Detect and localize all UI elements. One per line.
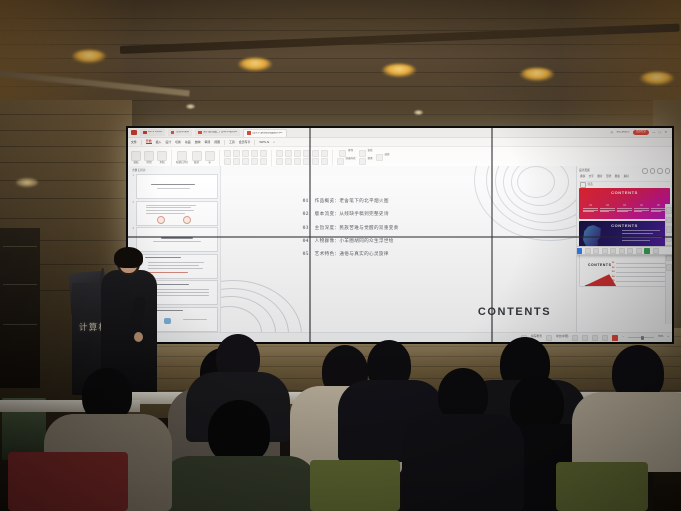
italic-icon[interactable]	[233, 150, 240, 157]
menu-item-home[interactable]: 开始	[146, 140, 152, 144]
slide-thumbnail[interactable]	[136, 227, 219, 252]
row-number: 04	[612, 276, 614, 278]
filter-label: 筛选	[588, 184, 593, 187]
text-direction-icon[interactable]	[312, 158, 319, 165]
chair	[8, 452, 128, 511]
menu-item-tools[interactable]: 工具	[229, 141, 235, 144]
cloud-icon[interactable]	[666, 226, 672, 233]
ppt-icon	[247, 131, 251, 135]
design-pane-title: 设计灵感	[579, 170, 590, 173]
design-pane-tools: 换肤 文字 图片 形状 图表 素材	[579, 174, 670, 182]
ribbon-copy[interactable]: 复制	[157, 151, 167, 165]
reading-view-icon[interactable]	[602, 335, 608, 341]
audience-head	[208, 400, 270, 464]
card-column: 01	[583, 205, 598, 213]
ribbon-paste[interactable]: 粘贴	[131, 151, 141, 165]
card-lines	[622, 230, 666, 244]
ceiling-spotlight	[640, 72, 674, 85]
shape-outline-icon[interactable]	[337, 158, 344, 165]
ribbon-label: 剪切	[146, 162, 151, 165]
ribbon-cut[interactable]: 剪切	[144, 151, 154, 165]
check-icon[interactable]	[644, 248, 650, 254]
scissors-icon	[144, 151, 154, 161]
slide-number: 3	[130, 227, 134, 231]
card-row: 04	[612, 276, 666, 278]
column-number: 03	[617, 205, 632, 207]
ribbon-label: 版式	[194, 162, 199, 165]
wps-ai-button[interactable]: WPS AI	[259, 141, 269, 144]
ribbon-label: 替换	[368, 158, 373, 165]
card-row: 01	[612, 262, 666, 264]
work-area: 大纲 幻灯片 1 2	[128, 166, 672, 333]
maximize-button[interactable]: ▢	[658, 131, 661, 134]
slide-number: 1	[130, 174, 134, 178]
language-label[interactable]: 中文(中国)	[556, 336, 569, 339]
ceiling-spotlight	[382, 64, 416, 77]
account-icon[interactable]: ◎	[611, 131, 614, 134]
column-number: 05	[651, 205, 666, 207]
menu-item-slideshow[interactable]: 放映	[195, 141, 201, 144]
title-bar: WPS Office 付款申请单 第六组成品_千部中华魂.pptx 四条六讲题组…	[128, 128, 672, 138]
account-label[interactable]: 未登录账号	[616, 131, 629, 134]
zoom-slider[interactable]	[628, 337, 654, 338]
slide-canvas-wrapper: 01 作品概览：老舍笔下的北平烟火图 02 版本流变：从残缺手稿到完整史诗 03…	[221, 166, 576, 333]
thumbnail-row[interactable]: 2	[130, 201, 218, 226]
pen-icon[interactable]	[610, 248, 616, 254]
ppt-icon	[198, 131, 202, 135]
doc-icon	[171, 131, 175, 135]
close-pane-icon[interactable]	[665, 168, 671, 174]
pin-icon[interactable]	[657, 168, 663, 174]
ceiling-spotlight	[520, 68, 554, 81]
menu-item-design[interactable]: 设计	[165, 141, 171, 144]
card-column: 05	[651, 205, 666, 213]
audience-body	[572, 392, 681, 472]
audience-body	[160, 456, 318, 511]
text-effect-icon[interactable]	[260, 158, 267, 165]
replace-icon[interactable]	[359, 158, 366, 165]
tool-skin[interactable]: 换肤	[580, 176, 585, 179]
ribbon-label: 排列	[348, 150, 353, 157]
card-column: 03	[617, 205, 632, 213]
tab-label: 付款申请单	[176, 131, 189, 134]
ribbon-new-slide[interactable]: 新建幻灯片	[176, 151, 189, 165]
history-icon[interactable]	[666, 264, 672, 271]
search-icon[interactable]: ⌕	[273, 141, 275, 144]
lecture-hall-scene: WPS Office 付款申请单 第六组成品_千部中华魂.pptx 四条六讲题组…	[0, 0, 681, 511]
card-row: 05	[612, 280, 666, 282]
ceiling-spotlight	[72, 50, 106, 63]
toc-text: 人物群像：小羊圈胡同的众生浮世绘	[315, 239, 394, 244]
indent-increase-icon[interactable]	[303, 150, 310, 157]
presenter-hair	[114, 247, 143, 268]
card-row: 03	[612, 271, 666, 273]
toc-row[interactable]: 04 人物群像：小羊圈胡同的众生浮世绘	[303, 239, 399, 245]
shape-fill-icon[interactable]	[339, 150, 346, 157]
align-left-icon[interactable]	[321, 150, 328, 157]
ribbon-layout[interactable]: 版式	[192, 151, 202, 165]
video-wall-display: WPS Office 付款申请单 第六组成品_千部中华魂.pptx 四条六讲题组…	[126, 126, 674, 344]
select-icon[interactable]	[376, 154, 383, 161]
ribbon-label: 新建幻灯片	[176, 162, 189, 165]
design-card-contents-red[interactable]: CONTENTS 01 02	[579, 188, 670, 219]
home-icon	[143, 131, 147, 135]
ribbon-select[interactable]: 选择	[376, 154, 390, 161]
document-tab[interactable]: WPS Office	[140, 129, 165, 136]
card-column: 02	[600, 205, 615, 213]
ribbon-paragraph-group[interactable]	[276, 150, 328, 165]
slide-heading: CONTENTS	[478, 307, 551, 318]
menu-bar: 文件 开始 插入 设计 切换 动画 放映 审阅 视图 工具 会员专享 WPS A…	[128, 138, 672, 147]
tool-text[interactable]: 文字	[589, 176, 594, 179]
column-number: 04	[634, 205, 649, 207]
tab-label: 四条六讲题组成品版.pptx	[252, 132, 282, 135]
slide-number: 2	[130, 201, 134, 205]
toc-number: 04	[303, 239, 309, 245]
highlight-icon[interactable]	[242, 158, 249, 165]
right-tool-rail[interactable]	[665, 204, 672, 324]
magic-icon[interactable]	[593, 248, 599, 254]
column-number: 01	[583, 205, 598, 207]
bold-icon[interactable]	[224, 150, 231, 157]
sorter-view-icon[interactable]	[592, 335, 598, 341]
normal-view-icon[interactable]	[582, 335, 588, 341]
close-button[interactable]: ✕	[664, 131, 667, 134]
menu-item-animation[interactable]: 动画	[185, 141, 191, 144]
template-icon[interactable]	[666, 236, 672, 243]
login-button[interactable]: 立即登录	[633, 130, 649, 135]
language-icon[interactable]	[546, 335, 552, 341]
active-slide[interactable]: 01 作品概览：老舍笔下的北平烟火图 02 版本流变：从残缺手稿到完整史诗 03…	[221, 166, 576, 333]
ribbon-arrange[interactable]: 排列 快速样式	[337, 150, 356, 165]
ribbon-find-replace[interactable]: 查找 替换	[359, 150, 373, 165]
toc-text: 版本流变：从残缺手稿到完整史诗	[315, 212, 389, 217]
play-slideshow-icon[interactable]	[612, 335, 618, 341]
ribbon-label: 复制	[159, 162, 164, 165]
ribbon-label: 快速样式	[346, 158, 356, 165]
thumbnail-row[interactable]: 3	[130, 227, 218, 252]
menu-item-review[interactable]: 审阅	[204, 141, 210, 144]
translate-icon[interactable]	[585, 248, 591, 254]
favorites-icon[interactable]	[666, 217, 672, 224]
ribbon-font-group[interactable]	[224, 150, 267, 165]
toc-row[interactable]: 03 主旨深度：民族苦难与觉醒的双重变奏	[303, 226, 399, 232]
card-title: CONTENTS	[588, 264, 611, 267]
layout-icon	[192, 151, 202, 161]
image-library-icon[interactable]	[666, 255, 672, 262]
pointer-icon[interactable]	[653, 248, 659, 254]
document-tab[interactable]: 付款申请单	[168, 129, 192, 136]
toc-text: 艺术特色：通俗与真实的心灵旋律	[315, 252, 389, 257]
card-rows: 01 02 03	[612, 262, 666, 285]
font-size-down-icon[interactable]	[233, 158, 240, 165]
design-ideas-pane[interactable]: 设计灵感 换肤 文字 图片 形状 图表	[576, 166, 672, 333]
copy-icon	[157, 151, 167, 161]
wps-logo-icon	[131, 130, 137, 135]
align-center-icon[interactable]	[276, 158, 283, 165]
design-card-contents-white[interactable]: CONTENTS 01 02	[579, 254, 670, 287]
font-color-icon[interactable]	[260, 150, 267, 157]
clear-format-icon[interactable]	[251, 158, 258, 165]
section-icon	[205, 151, 215, 161]
ribbon-label: 粘贴	[133, 162, 138, 165]
underline-icon[interactable]	[242, 150, 249, 157]
toc-number: 05	[303, 252, 309, 258]
number-list-icon[interactable]	[285, 150, 292, 157]
tool-material[interactable]: 素材	[623, 176, 628, 179]
floating-format-toolbar[interactable]	[576, 246, 672, 255]
menu-item-file[interactable]: 文件	[131, 141, 137, 144]
toc-number: 01	[303, 199, 309, 205]
audience-body	[402, 414, 524, 511]
ai-icon[interactable]	[576, 248, 582, 254]
toc-text: 作品概览：老舍笔下的北平烟火图	[315, 199, 389, 204]
column-number: 02	[600, 205, 615, 207]
eraser-icon[interactable]	[627, 248, 633, 254]
thumbnail-row[interactable]: 1	[130, 174, 218, 199]
slide-thumbnail[interactable]	[136, 174, 219, 199]
menu-item-member[interactable]: 会员专享	[239, 141, 251, 144]
bullet-list-icon[interactable]	[276, 150, 283, 157]
image-icon[interactable]	[636, 248, 642, 254]
ribbon-label: 查找	[368, 150, 373, 157]
toc-text: 主旨深度：民族苦难与觉醒的双重变奏	[315, 226, 399, 231]
ribbon-section[interactable]: 节	[205, 151, 215, 165]
card-title: CONTENTS	[579, 224, 670, 228]
toc-row[interactable]: 01 作品概览：老舍笔下的北平烟火图	[303, 199, 399, 205]
shape-icon[interactable]	[602, 248, 608, 254]
toc-row[interactable]: 05 艺术特色：通俗与真实的心灵旋律	[303, 252, 399, 258]
tab-label: 第六组成品_千部中华魂.pptx	[203, 131, 237, 134]
zoom-in-button[interactable]: +	[667, 336, 669, 339]
chair	[310, 460, 400, 511]
wps-office-window: WPS Office 付款申请单 第六组成品_千部中华魂.pptx 四条六讲题组…	[128, 128, 672, 342]
screen-surface: WPS Office 付款申请单 第六组成品_千部中华魂.pptx 四条六讲题组…	[128, 128, 672, 342]
indent-decrease-icon[interactable]	[294, 150, 301, 157]
clipboard-icon	[131, 151, 141, 161]
note-icon[interactable]	[572, 335, 578, 341]
font-size-up-icon[interactable]	[224, 158, 231, 165]
filter-icon	[580, 182, 586, 188]
zoom-level: 70%	[658, 336, 663, 339]
card-columns: 01 02 03	[583, 205, 666, 213]
row-number: 05	[612, 280, 614, 282]
line-spacing-icon[interactable]	[312, 150, 319, 157]
columns-icon[interactable]	[303, 158, 310, 165]
toc-number: 02	[303, 212, 309, 218]
menu-item-transition[interactable]: 切换	[175, 141, 181, 144]
card-column: 04	[634, 205, 649, 213]
document-tab-active[interactable]: 四条六讲题组成品版.pptx	[243, 129, 286, 137]
zoom-out-button[interactable]: −	[622, 336, 624, 339]
ceiling-spotlight	[238, 58, 272, 71]
presenter-hand	[134, 332, 143, 342]
tab-label: WPS Office	[148, 131, 162, 134]
status-bar: 幻灯片 4 / 22 拼写检查 中文(中国) − 70% +	[128, 332, 672, 342]
help-icon[interactable]	[642, 168, 648, 174]
row-number: 02	[612, 267, 614, 269]
menu-item-insert[interactable]: 插入	[156, 141, 162, 144]
convert-smartart-icon[interactable]	[321, 158, 328, 165]
design-idea-icon[interactable]	[666, 207, 672, 214]
document-tab[interactable]: 第六组成品_千部中华魂.pptx	[195, 129, 240, 136]
align-right-icon[interactable]	[285, 158, 292, 165]
row-number: 03	[612, 271, 614, 273]
table-of-contents: 01 作品概览：老舍笔下的北平烟火图 02 版本流变：从残缺手稿到完整史诗 03…	[303, 199, 399, 257]
minimize-button[interactable]: —	[652, 131, 655, 134]
card-title: CONTENTS	[579, 191, 670, 195]
toc-number: 03	[303, 226, 309, 232]
settings-icon[interactable]	[650, 168, 656, 174]
chair	[556, 462, 648, 511]
tool-image[interactable]: 图片	[597, 176, 602, 179]
row-number: 01	[612, 262, 614, 264]
justify-icon[interactable]	[294, 158, 301, 165]
slide-thumbnail[interactable]	[136, 201, 219, 226]
card-row: 02	[612, 267, 666, 269]
menu-item-view[interactable]: 视图	[214, 141, 220, 144]
ribbon-label: 选择	[385, 154, 390, 161]
side-cabinet	[0, 228, 40, 388]
crop-icon[interactable]	[619, 248, 625, 254]
toc-row[interactable]: 02 版本流变：从残缺手稿到完整史诗	[303, 212, 399, 218]
tool-chart[interactable]: 图表	[615, 176, 620, 179]
new-slide-icon	[177, 151, 187, 161]
tool-shape[interactable]: 形状	[606, 176, 611, 179]
zoom-slider-knob[interactable]	[641, 336, 644, 340]
strikethrough-icon[interactable]	[251, 150, 258, 157]
find-icon[interactable]	[359, 150, 366, 157]
ribbon-label: 节	[208, 162, 211, 165]
